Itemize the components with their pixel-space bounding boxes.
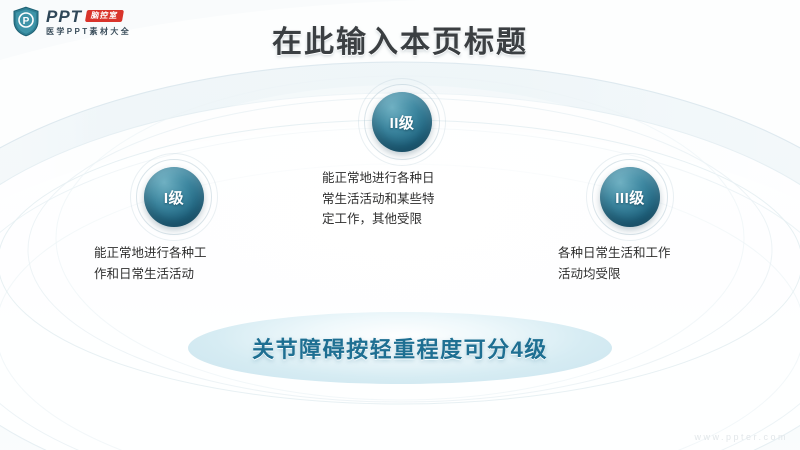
summary-banner-label: 关节障碍按轻重程度可分4级: [252, 332, 548, 364]
page-title: 在此输入本页标题: [0, 17, 800, 61]
node-circle[interactable]: I级: [144, 167, 204, 227]
node-level-label: I级: [164, 187, 184, 208]
node-level-label: II级: [390, 112, 415, 133]
node-level-3[interactable]: III级: [594, 161, 666, 233]
node-level-label: III级: [615, 187, 645, 208]
node-level-2[interactable]: II级: [366, 86, 438, 158]
footer-watermark: www.ppter.com: [694, 432, 788, 442]
slide-canvas: P PPT 脑控室 医学PPT素材大全 在此输入本页标题 I级 能正常地进行各种…: [0, 0, 800, 450]
node-description-level-3: 各种日常生活和工作 活动均受限: [558, 243, 733, 284]
node-circle[interactable]: II级: [372, 92, 432, 152]
summary-banner: 关节障碍按轻重程度可分4级: [188, 312, 612, 384]
node-description-level-1: 能正常地进行各种工 作和日常生活活动: [94, 243, 269, 284]
node-level-1[interactable]: I级: [138, 161, 210, 233]
node-circle[interactable]: III级: [600, 167, 660, 227]
node-description-level-2: 能正常地进行各种日 常生活活动和某些特 定工作，其他受限: [322, 168, 497, 230]
